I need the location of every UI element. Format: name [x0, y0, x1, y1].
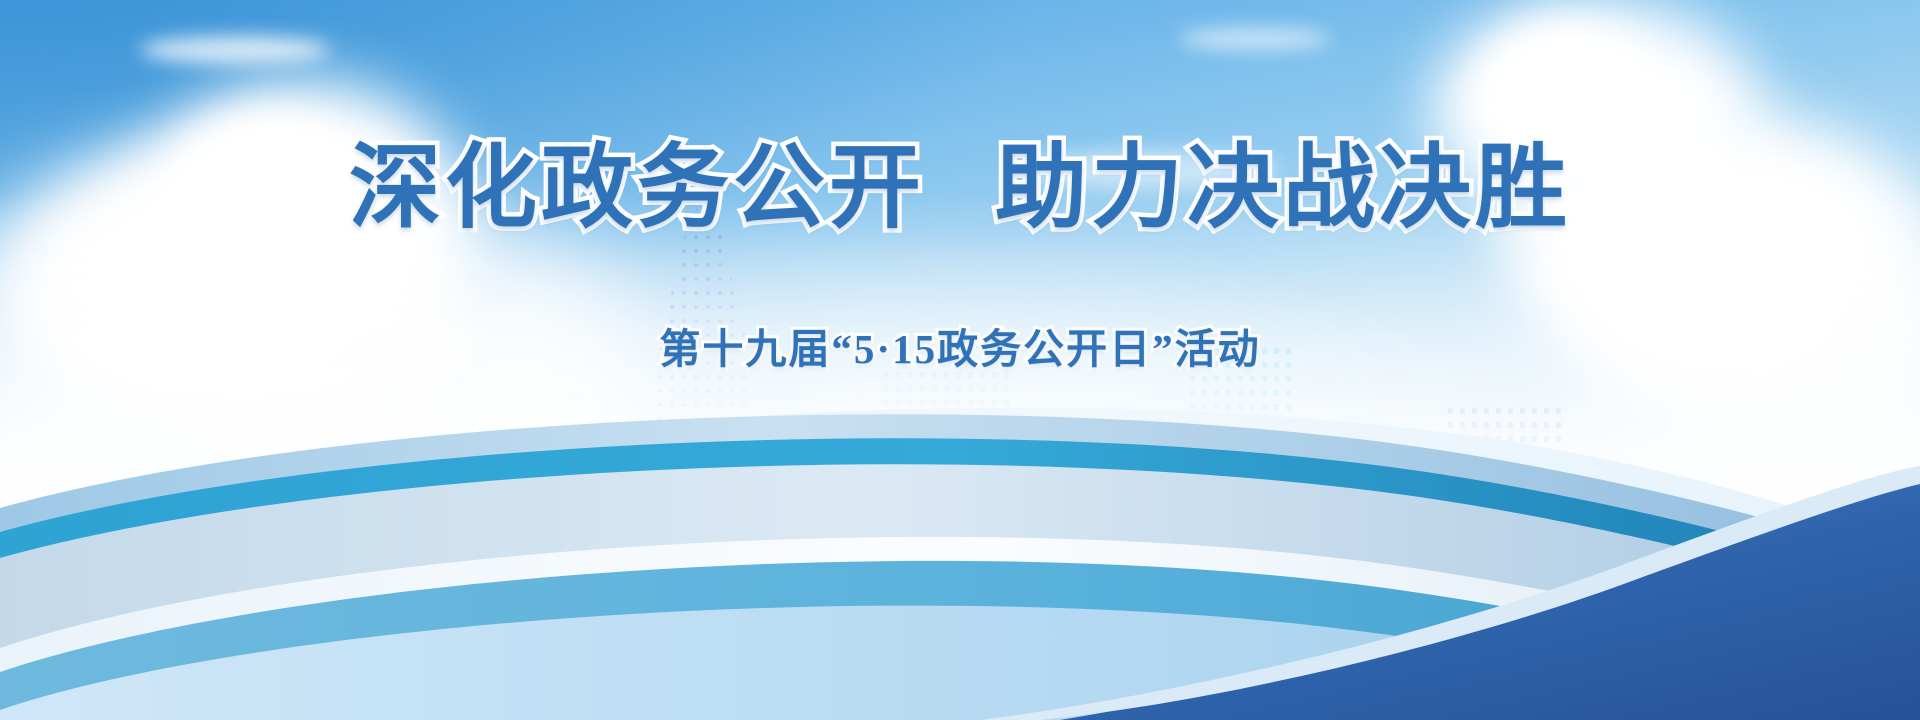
cloud-wisp-1: [140, 36, 330, 64]
title-part-2: 助力决战决胜: [995, 137, 1571, 239]
banner-root: 深化政务公开助力决战决胜 第十九届“5·15政务公开日”活动: [0, 0, 1920, 720]
cloud-wisp-2: [1180, 28, 1330, 50]
title-part-1: 深化政务公开: [349, 137, 925, 239]
page-title: 深化政务公开助力决战决胜: [0, 140, 1920, 237]
wave-ribbons: [0, 380, 1920, 720]
page-subtitle: 第十九届“5·15政务公开日”活动: [0, 315, 1920, 375]
